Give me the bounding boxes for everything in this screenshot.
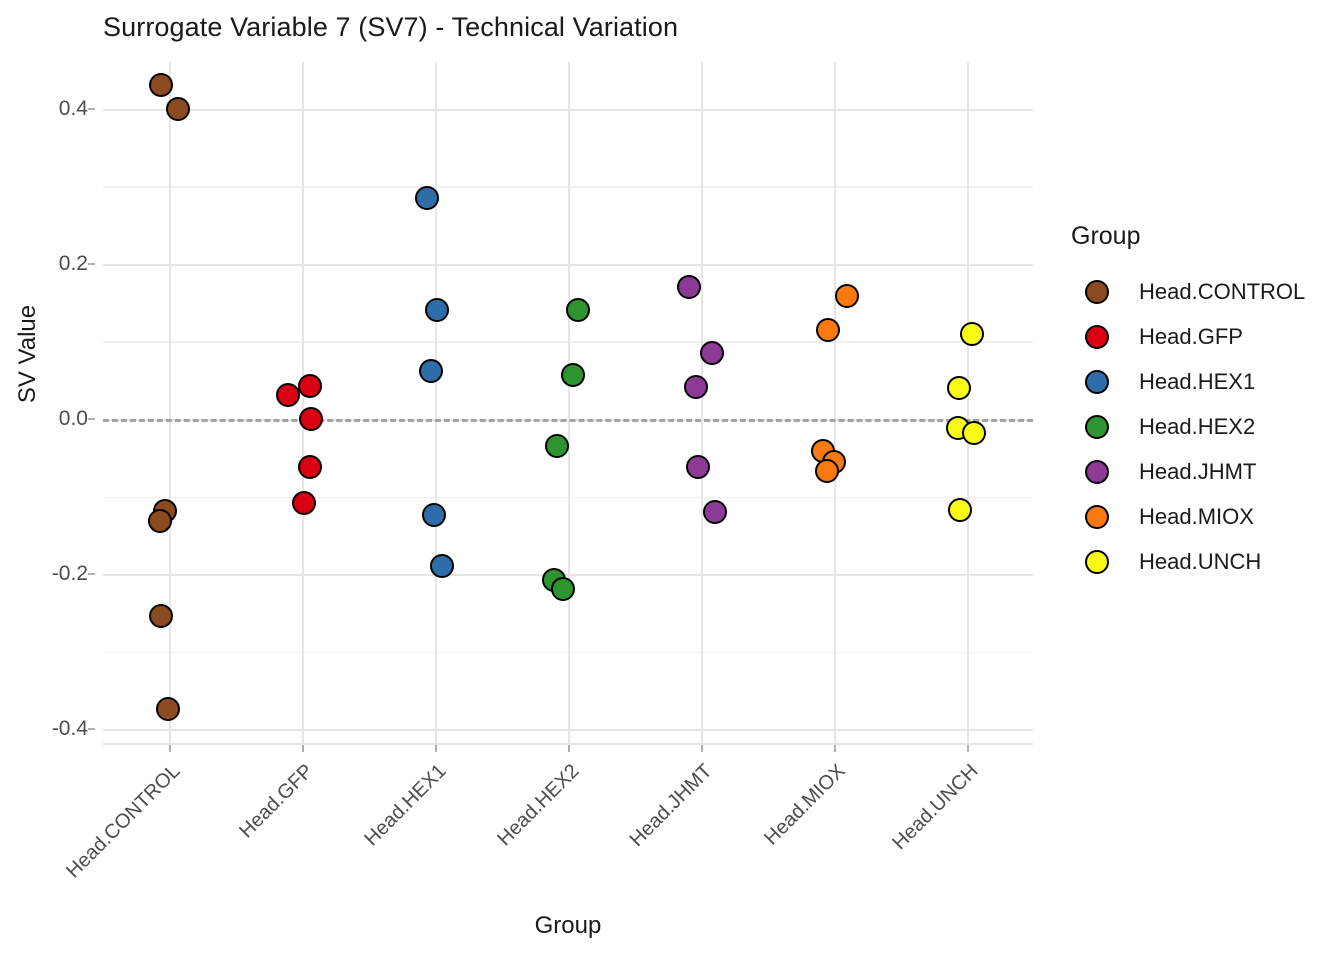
data-point xyxy=(425,298,449,322)
data-point xyxy=(156,697,180,721)
legend-item-head-unch[interactable]: Head.UNCH xyxy=(1071,539,1341,584)
y-axis-tick-label: -0.2 xyxy=(52,562,88,586)
x-axis-tick-mark xyxy=(435,745,437,752)
legend-item-label: Head.HEX2 xyxy=(1139,414,1255,440)
y-axis-tick-label: 0.2 xyxy=(59,252,88,276)
gridline-major-vertical xyxy=(435,62,437,745)
data-point xyxy=(298,455,322,479)
data-point xyxy=(703,500,727,524)
page-title: Surrogate Variable 7 (SV7) - Technical V… xyxy=(103,12,678,43)
data-point xyxy=(686,455,710,479)
data-point xyxy=(566,298,590,322)
data-point xyxy=(551,577,575,601)
gridline-major-vertical xyxy=(701,62,703,745)
gridline-major-vertical xyxy=(568,62,570,745)
data-point xyxy=(960,322,984,346)
data-point xyxy=(561,363,585,387)
legend-title: Group xyxy=(1071,222,1341,251)
data-point xyxy=(149,604,173,628)
y-axis-tick-mark xyxy=(88,263,95,265)
data-point xyxy=(299,407,323,431)
data-point xyxy=(298,374,322,398)
data-point xyxy=(149,73,173,97)
gridline-major-vertical xyxy=(169,62,171,745)
data-point xyxy=(677,275,701,299)
legend-key-icon xyxy=(1085,415,1109,439)
plot-panel xyxy=(103,62,1033,745)
legend-items: Head.CONTROLHead.GFPHead.HEX1Head.HEX2He… xyxy=(1071,269,1341,584)
y-axis-tick-label: 0.0 xyxy=(59,407,88,431)
gridline-major-vertical xyxy=(302,62,304,745)
x-axis-tick-mark xyxy=(967,745,969,752)
data-point xyxy=(545,434,569,458)
legend-item-head-miox[interactable]: Head.MIOX xyxy=(1071,494,1341,539)
data-point xyxy=(962,421,986,445)
x-axis-tick-mark xyxy=(834,745,836,752)
y-axis-title: SV Value xyxy=(14,234,42,474)
y-axis-tick-label: 0.4 xyxy=(59,97,88,121)
data-point xyxy=(430,554,454,578)
chart-root: Surrogate Variable 7 (SV7) - Technical V… xyxy=(0,0,1344,960)
legend-item-label: Head.MIOX xyxy=(1139,504,1254,530)
data-point xyxy=(415,186,439,210)
legend-key-icon xyxy=(1085,505,1109,529)
data-point xyxy=(276,383,300,407)
legend-item-head-hex2[interactable]: Head.HEX2 xyxy=(1071,404,1341,449)
data-point xyxy=(700,341,724,365)
legend-item-head-jhmt[interactable]: Head.JHMT xyxy=(1071,449,1341,494)
zero-reference-line xyxy=(103,419,1033,422)
x-axis-tick-mark xyxy=(169,745,171,752)
legend-item-label: Head.JHMT xyxy=(1139,459,1256,485)
y-axis-tick-mark xyxy=(88,728,95,730)
x-axis-tick-mark xyxy=(302,745,304,752)
legend-item-head-gfp[interactable]: Head.GFP xyxy=(1071,314,1341,359)
data-point xyxy=(148,509,172,533)
legend-item-label: Head.HEX1 xyxy=(1139,369,1255,395)
legend-key-icon xyxy=(1085,280,1109,304)
legend-key-icon xyxy=(1085,460,1109,484)
legend-item-label: Head.UNCH xyxy=(1139,549,1261,575)
data-point xyxy=(948,498,972,522)
data-point xyxy=(835,284,859,308)
legend-item-head-control[interactable]: Head.CONTROL xyxy=(1071,269,1341,314)
legend-item-head-hex1[interactable]: Head.HEX1 xyxy=(1071,359,1341,404)
legend-key-icon xyxy=(1085,325,1109,349)
legend-item-label: Head.CONTROL xyxy=(1139,279,1305,305)
data-point xyxy=(422,503,446,527)
x-axis-tick-mark xyxy=(568,745,570,752)
data-point xyxy=(419,359,443,383)
data-point xyxy=(292,491,316,515)
legend-key-icon xyxy=(1085,550,1109,574)
y-axis-tick-label: -0.4 xyxy=(52,717,88,741)
x-axis-tick-mark xyxy=(701,745,703,752)
data-point xyxy=(816,318,840,342)
data-point xyxy=(684,375,708,399)
legend-key-icon xyxy=(1085,370,1109,394)
gridline-major-vertical xyxy=(967,62,969,745)
legend-item-label: Head.GFP xyxy=(1139,324,1243,350)
y-axis-tick-mark xyxy=(88,418,95,420)
data-point xyxy=(815,459,839,483)
y-axis-tick-mark xyxy=(88,108,95,110)
legend: Group Head.CONTROLHead.GFPHead.HEX1Head.… xyxy=(1071,222,1341,584)
y-axis-tick-mark xyxy=(88,573,95,575)
data-point xyxy=(947,376,971,400)
data-point xyxy=(166,97,190,121)
gridline-major-vertical xyxy=(834,62,836,745)
